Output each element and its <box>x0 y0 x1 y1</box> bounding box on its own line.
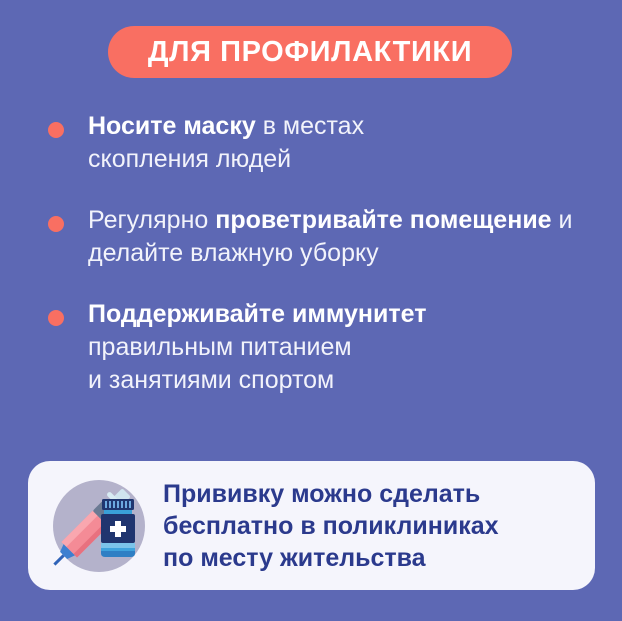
list-item: Регулярно проветривайте помещение и дела… <box>0 204 622 270</box>
vaccine-syringe-vial-icon <box>46 473 152 579</box>
prevention-tips-list: Носите маску в местахскопления людей Рег… <box>0 110 622 425</box>
bullet-dot-icon <box>48 122 64 138</box>
list-item-bold-lead: Носите маску <box>88 112 256 140</box>
header-badge-label: ДЛЯ ПРОФИЛАКТИКИ <box>148 38 472 67</box>
list-item-line2: правильным питанием <box>88 333 352 361</box>
list-item-text: Поддерживайте иммунитетправильным питани… <box>88 298 598 397</box>
list-item-text: Регулярно проветривайте помещение и дела… <box>88 204 598 270</box>
bullet-dot-icon <box>48 310 64 326</box>
header-badge: ДЛЯ ПРОФИЛАКТИКИ <box>108 26 512 78</box>
prevention-infographic-poster: ДЛЯ ПРОФИЛАКТИКИ Носите маску в местахск… <box>0 0 622 621</box>
list-item: Носите маску в местахскопления людей <box>0 110 622 176</box>
bullet-dot-icon <box>48 216 64 232</box>
list-item: Поддерживайте иммунитетправильным питани… <box>0 298 622 397</box>
list-item-line2: скопления людей <box>88 145 291 173</box>
list-item-prefix: Регулярно <box>88 206 215 234</box>
info-line-3: по месту жительства <box>163 542 499 574</box>
list-item-line3: и занятиями спортом <box>88 366 334 394</box>
vaccination-info-card: Прививку можно сделать бесплатно в полик… <box>28 461 595 590</box>
vaccination-info-text: Прививку можно сделать бесплатно в полик… <box>163 478 499 574</box>
list-item-bold-lead: Поддерживайте иммунитет <box>88 300 426 328</box>
list-item-bold: проветривайте помещение <box>215 206 551 234</box>
list-item-text: Носите маску в местахскопления людей <box>88 110 598 176</box>
list-item-rest: в местах <box>256 112 364 140</box>
info-line-1: Прививку можно сделать <box>163 478 499 510</box>
info-line-2: бесплатно в поликлиниках <box>163 510 499 542</box>
